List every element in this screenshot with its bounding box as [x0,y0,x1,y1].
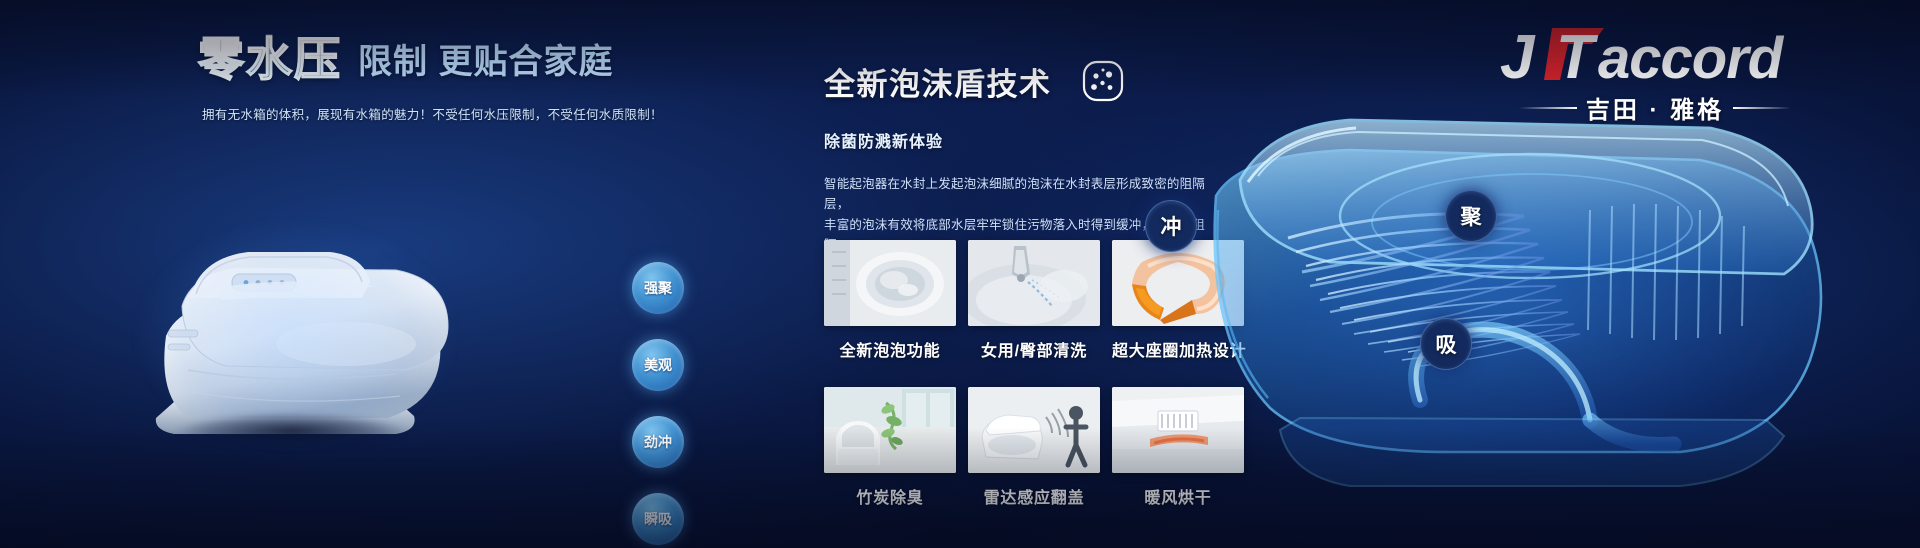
bamboo-charcoal-deodorize-photo [824,387,956,473]
left-description: 拥有无水箱的体积，展现有水箱的魅力！不受任何水压限制，不受任何水质限制！ [202,104,663,123]
brand-cn-name: 吉田 · 雅格 [1586,90,1724,125]
pill-shunxi[interactable]: 瞬吸 [632,493,684,545]
bidet-nozzle-spray-photo [968,240,1100,326]
left-feature-pill-list: 强聚 美观 劲冲 瞬吸 [632,262,684,548]
svg-text:accord: accord [1598,26,1785,88]
left-headline: 零水压 限制 更贴合家庭 [198,36,613,82]
banner-stage: 零水压 限制 更贴合家庭 拥有无水箱的体积，展现有水箱的魅力！不受任何水压限制，… [0,0,1920,548]
product-shadow [142,408,442,454]
badge-gather[interactable]: 聚 [1445,190,1497,242]
pill-qiangju[interactable]: 强聚 [632,262,684,314]
pill-jingchong[interactable]: 劲冲 [632,416,684,468]
logo-rule-right [1733,107,1791,109]
center-title: 全新泡沫盾技术 [824,59,1052,104]
right-panel: 冲 聚 吸 J T accord 吉田 · 雅格 [1120,0,1920,548]
toilet-bowl-foam-photo [824,240,956,326]
pill-meiguan[interactable]: 美观 [632,339,684,391]
feature-card-label: 雷达感应翻盖 [968,484,1100,508]
svg-text:T: T [1556,23,1599,88]
headline-main: 零水压 [198,36,342,82]
feature-card-foam[interactable]: 全新泡泡功能 [824,240,956,361]
feature-card-label: 全新泡泡功能 [824,337,956,361]
jtaccord-wordmark: J T accord [1500,22,1810,88]
feature-card-bidet[interactable]: 女用/臀部清洗 [968,240,1100,361]
left-panel: 零水压 限制 更贴合家庭 拥有无水箱的体积，展现有水箱的魅力！不受任何水压限制，… [0,0,640,548]
feature-card-radar-lid[interactable]: 雷达感应翻盖 [968,387,1100,508]
feature-card-label: 竹炭除臭 [824,484,956,508]
brand-logo[interactable]: J T accord 吉田 · 雅格 [1500,22,1810,125]
radar-sensor-auto-lid-photo [968,387,1100,473]
feature-card-deodorize[interactable]: 竹炭除臭 [824,387,956,508]
brand-cn-row: 吉田 · 雅格 [1500,90,1810,125]
badge-suction[interactable]: 吸 [1420,318,1472,370]
headline-sub: 限制 更贴合家庭 [358,45,613,82]
svg-text:J: J [1500,23,1536,88]
feature-card-label: 女用/臀部清洗 [968,337,1100,361]
smart-toilet-illustration [96,130,496,460]
badge-flush[interactable]: 冲 [1145,200,1197,252]
logo-rule-left [1519,107,1577,109]
